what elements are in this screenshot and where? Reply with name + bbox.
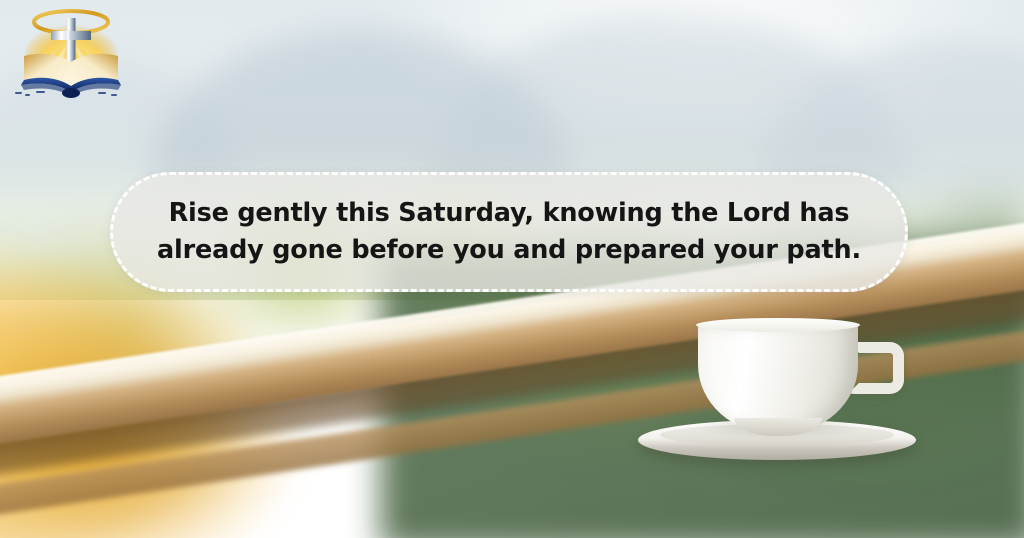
quote-graphic-canvas: Rise gently this Saturday, knowing the L… bbox=[0, 0, 1024, 538]
open-bible-with-cross-logo[interactable] bbox=[10, 4, 132, 100]
coffee-cup-and-saucer bbox=[630, 300, 930, 480]
cup-rim bbox=[696, 318, 860, 332]
quote-box: Rise gently this Saturday, knowing the L… bbox=[110, 172, 908, 292]
quote-text: Rise gently this Saturday, knowing the L… bbox=[147, 195, 871, 269]
